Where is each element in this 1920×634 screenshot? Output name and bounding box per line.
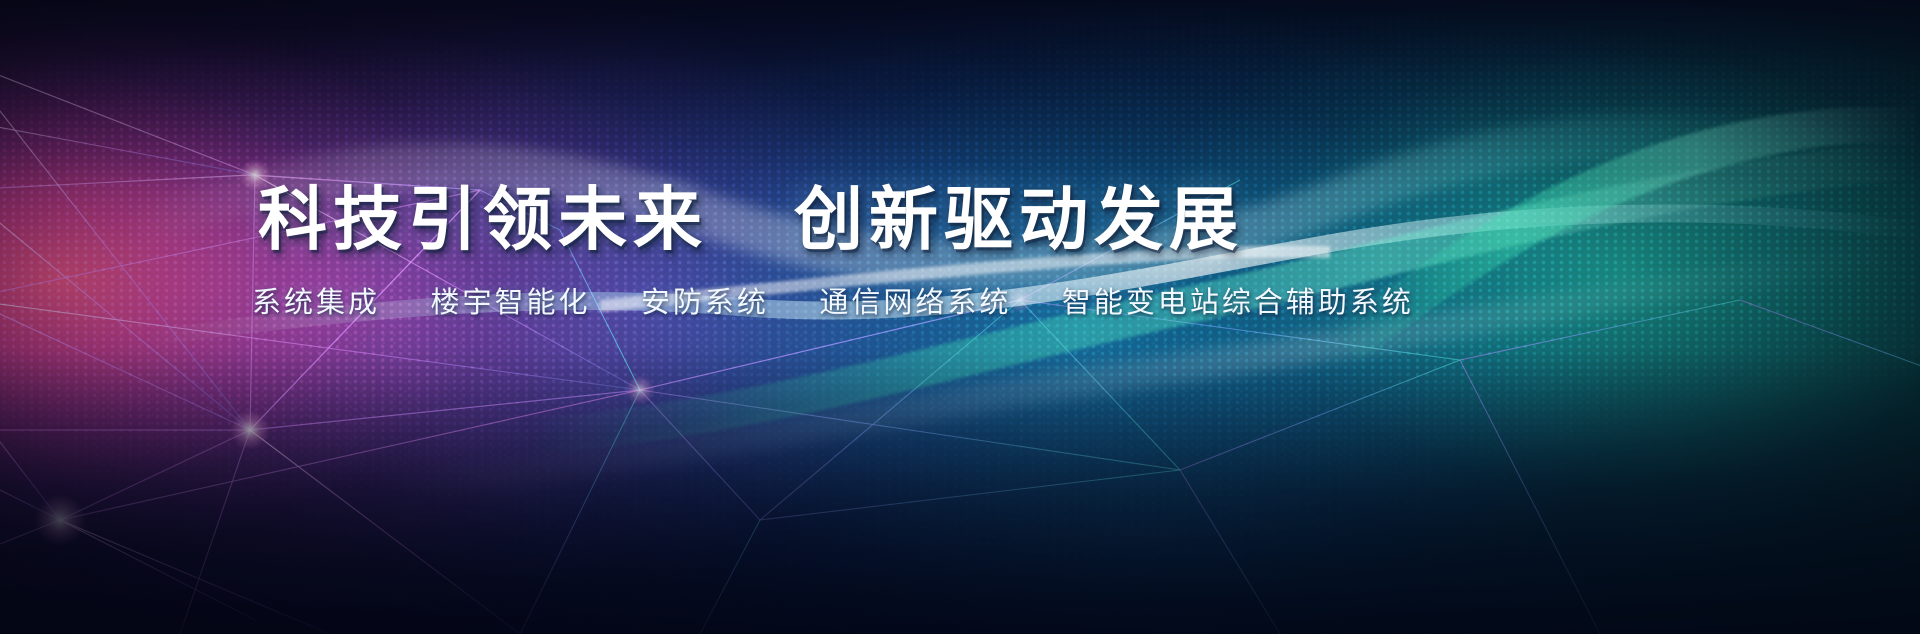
headline: 科技引领未来 创新驱动发展 [258, 186, 1244, 255]
subtitle-item-4: 智能变电站综合辅助系统 [1062, 285, 1414, 319]
subtitle-item-2: 安防系统 [641, 285, 769, 319]
headline-phrase-1: 科技引领未来 [258, 186, 708, 255]
tech-hero-banner: 科技引领未来 创新驱动发展 系统集成 楼宇智能化 安防系统 通信网络系统 智能变… [0, 0, 1920, 634]
subtitle-item-1: 楼宇智能化 [430, 285, 590, 319]
subtitle: 系统集成 楼宇智能化 安防系统 通信网络系统 智能变电站综合辅助系统 [252, 288, 1414, 317]
banner-content: 科技引领未来 创新驱动发展 系统集成 楼宇智能化 安防系统 通信网络系统 智能变… [0, 0, 1920, 634]
headline-phrase-2: 创新驱动发展 [794, 186, 1244, 255]
subtitle-item-3: 通信网络系统 [819, 285, 1011, 319]
subtitle-item-0: 系统集成 [252, 285, 380, 319]
